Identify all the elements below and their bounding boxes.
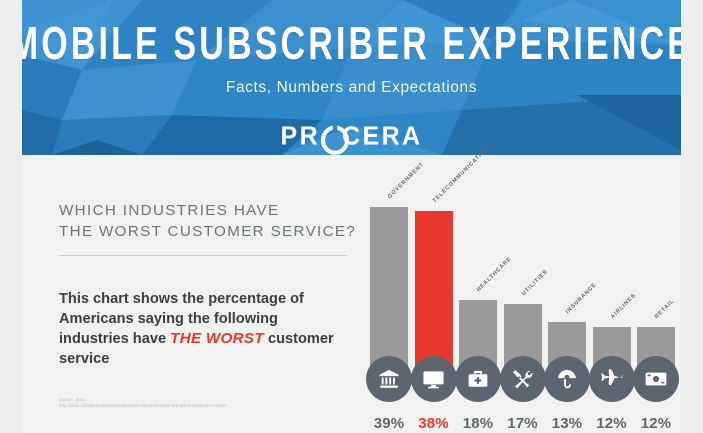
section-heading: WHICH INDUSTRIES HAVE THE WORST CUSTOMER…	[59, 200, 349, 242]
source-credit: Source: Ipsos http://www.statista.com/ch…	[59, 397, 226, 408]
bar-column[interactable]: RETAIL12%	[637, 327, 675, 380]
chart-plot-area: GOVERNMENT39%TELECOMMUNICATIONS38%HEALTH…	[355, 180, 681, 380]
lede-accent-text: THE WORST	[170, 330, 264, 347]
bank-icon	[366, 356, 412, 402]
section-heading-line2: THE WORST CUSTOMER SERVICE?	[59, 221, 349, 242]
page-title: MOBILE SUBSCRIBER EXPERIENCE	[22, 20, 681, 67]
bar-value-label: 12%	[596, 415, 627, 432]
bar-value-label: 17%	[507, 415, 538, 432]
medical-case-icon	[455, 356, 501, 402]
airplane-icon	[589, 356, 635, 402]
infographic-page: MOBILE SUBSCRIBER EXPERIENCE Facts, Numb…	[0, 0, 703, 433]
bar-chart: GOVERNMENT39%TELECOMMUNICATIONS38%HEALTH…	[355, 155, 681, 433]
logo-wordmark: PRCERA	[281, 121, 423, 151]
bar[interactable]	[415, 211, 453, 380]
header-banner: MOBILE SUBSCRIBER EXPERIENCE Facts, Numb…	[22, 0, 681, 155]
section-heading-line1: WHICH INDUSTRIES HAVE	[59, 200, 349, 221]
bar-column[interactable]: GOVERNMENT39%	[370, 207, 408, 380]
logo-text-pre: PR	[281, 121, 321, 150]
page-subtitle: Facts, Numbers and Expectations	[226, 79, 477, 97]
bar-value-label: 13%	[552, 415, 583, 432]
bar-category-label: UTILITIES	[520, 269, 548, 297]
bar-column[interactable]: TELECOMMUNICATIONS38%	[415, 211, 453, 380]
tools-icon	[500, 356, 546, 402]
monitor-icon	[411, 356, 457, 402]
logo-text-post: CERA	[342, 121, 422, 150]
left-column: WHICH INDUSTRIES HAVE THE WORST CUSTOMER…	[59, 200, 349, 369]
bar[interactable]	[370, 207, 408, 380]
lede-paragraph: This chart shows the percentage of Ameri…	[59, 290, 339, 369]
bar-category-label: AIRLINES	[609, 293, 637, 321]
bar-category-label: HEALTHCARE	[476, 256, 513, 293]
bar-column[interactable]: INSURANCE13%	[548, 322, 586, 380]
bar-value-label: 38%	[418, 415, 449, 432]
logo-ring-icon	[321, 125, 341, 146]
bar-column[interactable]: UTILITIES17%	[504, 304, 542, 380]
bar-column[interactable]: AIRLINES12%	[593, 327, 631, 380]
bar-value-label: 39%	[374, 415, 405, 432]
body-section: WHICH INDUSTRIES HAVE THE WORST CUSTOMER…	[22, 155, 681, 433]
bar-category-label: INSURANCE	[565, 282, 598, 315]
source-line-2: http://www.statista.com/chart/2281/which…	[59, 403, 226, 409]
bar-value-label: 12%	[641, 415, 672, 432]
banknote-icon	[633, 356, 679, 402]
procera-logo: PRCERA	[281, 122, 423, 151]
bar-value-label: 18%	[463, 415, 494, 432]
umbrella-icon	[544, 356, 590, 402]
bar-column[interactable]: HEALTHCARE18%	[459, 300, 497, 380]
bar-category-label: RETAIL	[654, 298, 676, 320]
bar-category-label: GOVERNMENT	[387, 162, 426, 201]
heading-divider	[59, 255, 347, 256]
